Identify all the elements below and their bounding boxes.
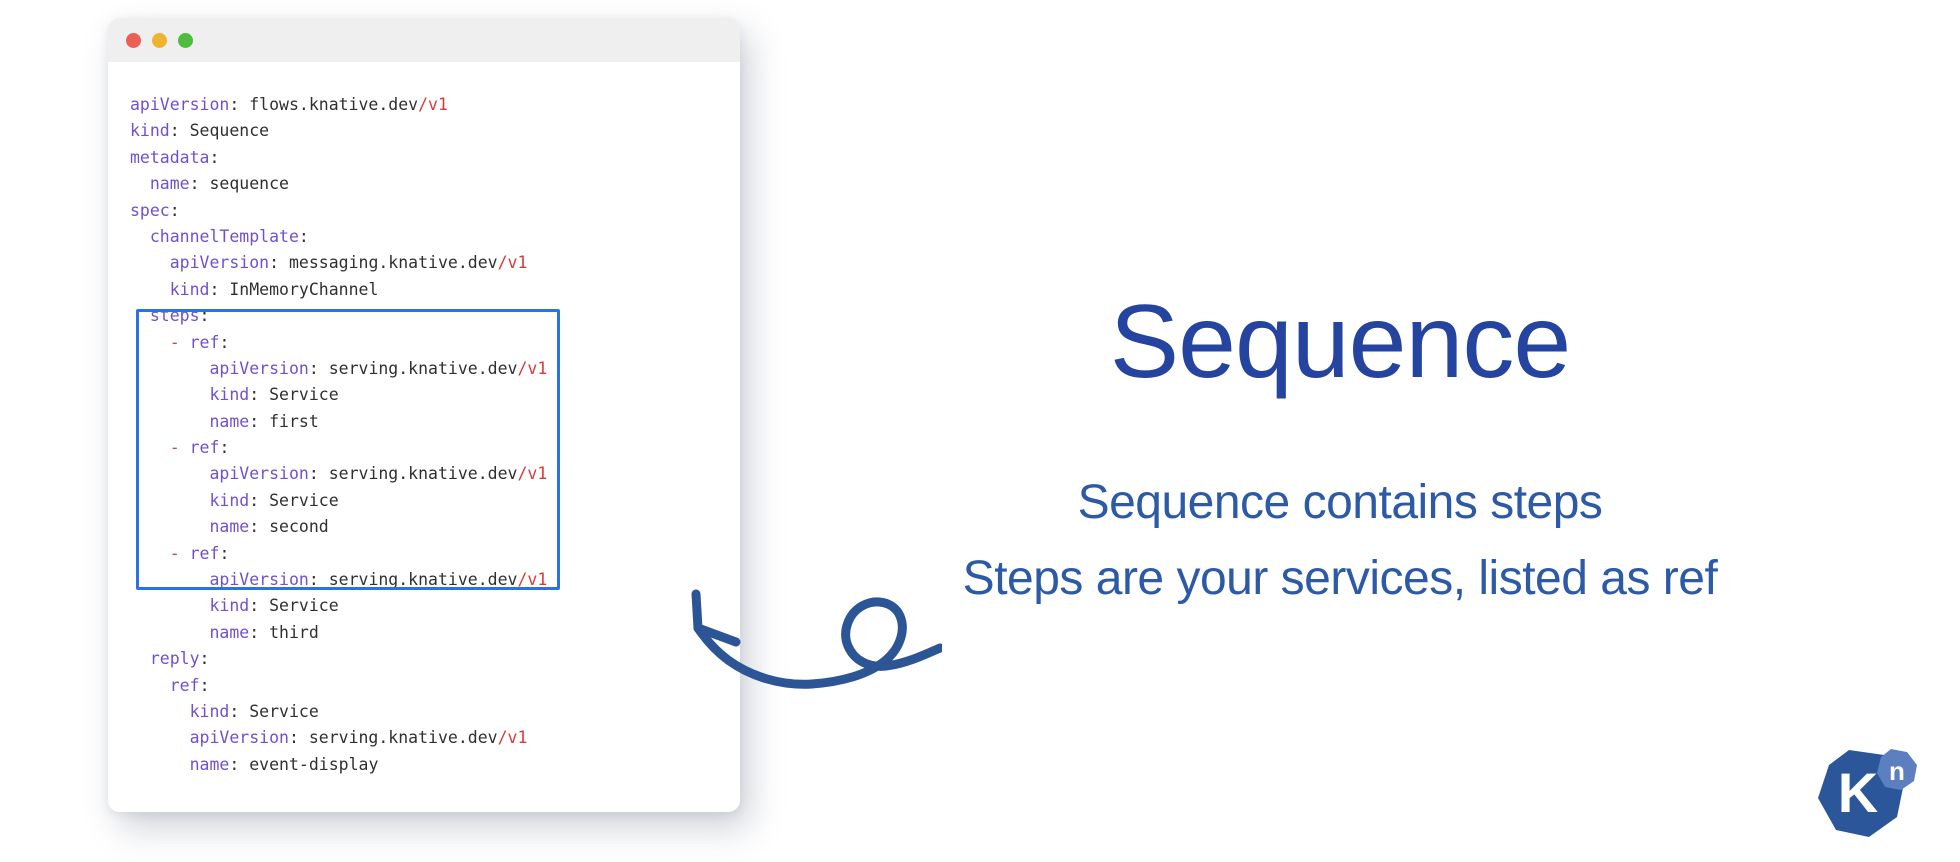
- close-button[interactable]: [126, 33, 141, 48]
- code-line: - ref:: [130, 435, 547, 461]
- code-line: kind: Sequence: [130, 118, 547, 144]
- code-line: ref:: [130, 673, 547, 699]
- maximize-button[interactable]: [178, 33, 193, 48]
- code-line: kind: Service: [130, 488, 547, 514]
- knative-logo-icon: K n: [1812, 745, 1922, 845]
- code-line: name: event-display: [130, 752, 547, 778]
- code-line: kind: Service: [130, 593, 547, 619]
- code-line: channelTemplate:: [130, 224, 547, 250]
- code-line: spec:: [130, 198, 547, 224]
- window-titlebar: [108, 18, 740, 62]
- code-line: apiVersion: serving.knative.dev/v1: [130, 356, 547, 382]
- code-line: kind: Service: [130, 699, 547, 725]
- code-line: metadata:: [130, 145, 547, 171]
- code-line: steps:: [130, 303, 547, 329]
- logo-letter-n: n: [1889, 756, 1905, 786]
- code-window: apiVersion: flows.knative.dev/v1kind: Se…: [108, 18, 740, 812]
- code-line: name: sequence: [130, 171, 547, 197]
- minimize-button[interactable]: [152, 33, 167, 48]
- code-line: reply:: [130, 646, 547, 672]
- page-title: Sequence: [1080, 290, 1600, 394]
- subtitle-block: Sequence contains steps Steps are your s…: [890, 465, 1790, 617]
- code-line: name: third: [130, 620, 547, 646]
- code-line: apiVersion: serving.knative.dev/v1: [130, 567, 547, 593]
- code-editor-area[interactable]: apiVersion: flows.knative.dev/v1kind: Se…: [108, 62, 740, 812]
- code-line: apiVersion: serving.knative.dev/v1: [130, 725, 547, 751]
- code-line: name: second: [130, 514, 547, 540]
- code-line: - ref:: [130, 541, 547, 567]
- subtitle-line-1: Sequence contains steps: [890, 465, 1790, 541]
- code-line: - ref:: [130, 330, 547, 356]
- yaml-code-block: apiVersion: flows.knative.dev/v1kind: Se…: [130, 92, 547, 778]
- code-line: apiVersion: messaging.knative.dev/v1: [130, 250, 547, 276]
- code-line: kind: Service: [130, 382, 547, 408]
- code-line: apiVersion: serving.knative.dev/v1: [130, 461, 547, 487]
- code-line: apiVersion: flows.knative.dev/v1: [130, 92, 547, 118]
- logo-letter-k: K: [1838, 761, 1878, 824]
- subtitle-line-2: Steps are your services, listed as ref: [890, 541, 1790, 617]
- code-line: name: first: [130, 409, 547, 435]
- code-line: kind: InMemoryChannel: [130, 277, 547, 303]
